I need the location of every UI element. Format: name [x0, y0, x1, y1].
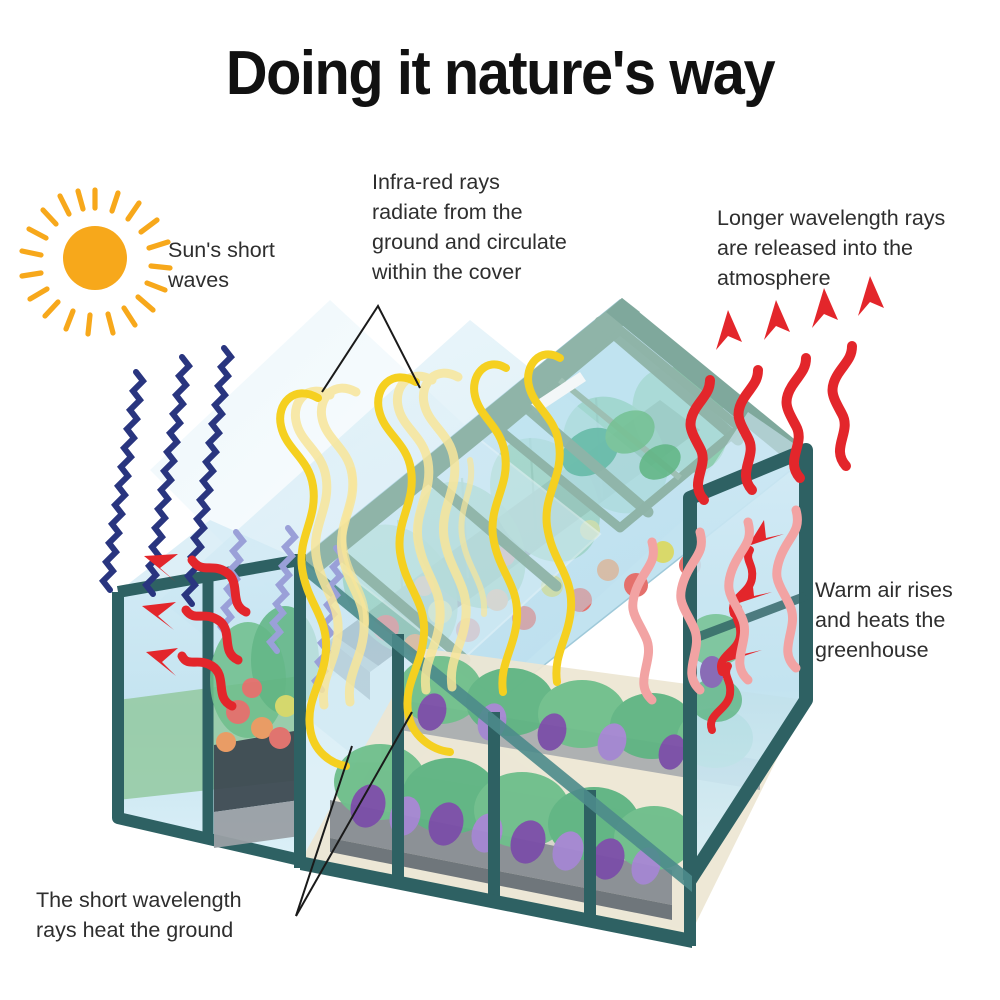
callout-warmair-label: Warm air rises and heats the greenhouse: [815, 575, 1000, 665]
page-title: Doing it nature's way: [35, 38, 965, 109]
callout-longwave-label: Longer wavelength rays are released into…: [717, 203, 987, 293]
callout-ground-label: The short wavelength rays heat the groun…: [36, 885, 336, 945]
sun-icon: [22, 190, 170, 334]
callout-infrared-label: Infra-red rays radiate from the ground a…: [372, 167, 612, 287]
infographic-canvas: Doing it nature's way Sun's short waves …: [0, 0, 1000, 1000]
greenhouse-illustration: [0, 0, 1000, 1000]
callout-sun-label: Sun's short waves: [168, 235, 348, 295]
